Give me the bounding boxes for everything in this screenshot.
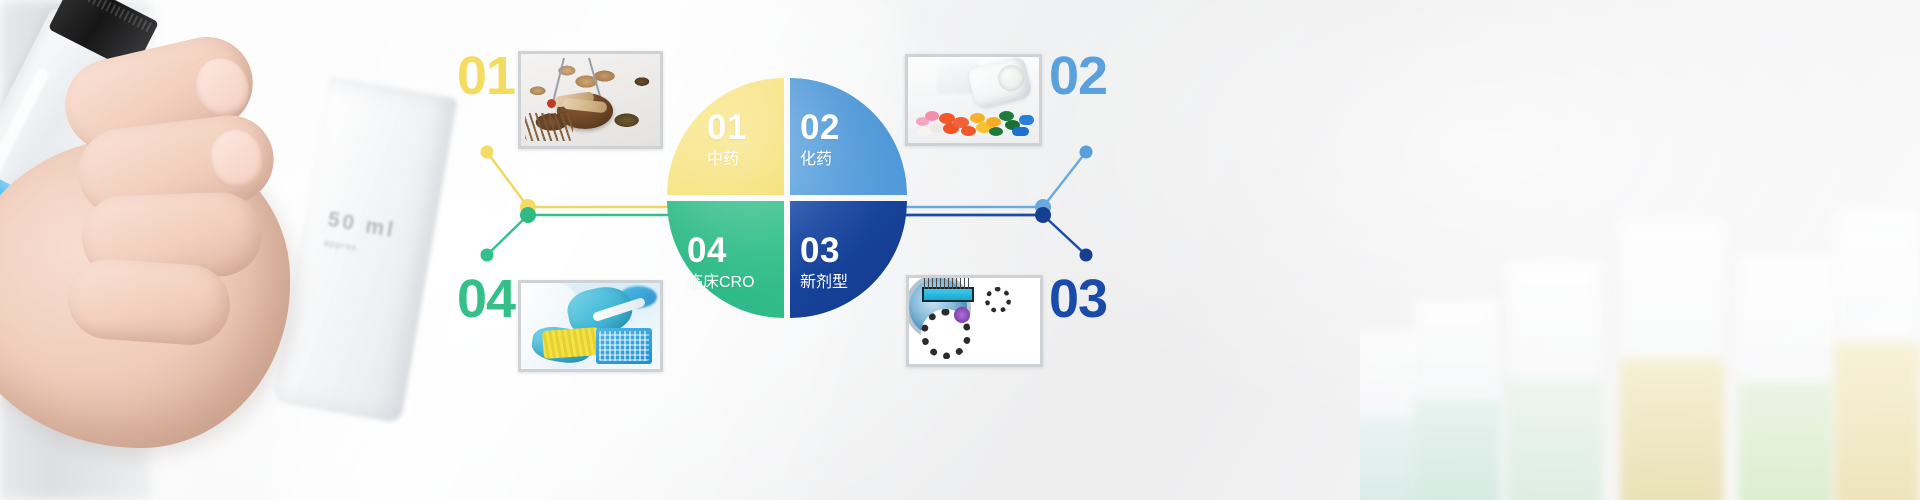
- quadrant-01-number: 01: [707, 110, 747, 145]
- quadrant-03-label: 03 新剂型: [800, 233, 848, 291]
- outer-number-01: 01: [457, 49, 515, 103]
- photo-pills: [908, 57, 1039, 143]
- outer-number-02: 02: [1049, 49, 1107, 103]
- quadrant-04-text: 临床CRO: [687, 275, 755, 291]
- connector-node-03-outer: [1080, 249, 1093, 262]
- hand: [0, 18, 380, 458]
- lipid-monolayer-diagram: [922, 287, 974, 302]
- hand-finger-little: [65, 256, 232, 347]
- quadrant-01-text: 中药: [707, 152, 747, 168]
- outer-number-04: 04: [457, 272, 515, 326]
- glassware-tube-b: [1506, 260, 1602, 500]
- quadrant-02-label: 02 化药: [800, 110, 840, 168]
- quadrant-03-text: 新剂型: [800, 275, 848, 291]
- yellow-pipette-tips: [542, 327, 600, 359]
- laboratory-glassware-scene: [1360, 0, 1920, 500]
- photo-card-02[interactable]: [905, 54, 1042, 146]
- pill-cluster: [913, 100, 1034, 138]
- quadrant-01-label: 01 中药: [707, 110, 747, 168]
- blue-tip-rack: [596, 328, 652, 364]
- quadrant-02-text: 化药: [800, 152, 840, 168]
- connector-02: [884, 146, 1093, 216]
- quadrant-04-number: 04: [687, 233, 755, 268]
- quadrant-04-label: 04 临床CRO: [687, 233, 755, 291]
- dried-twigs: [525, 113, 573, 141]
- photo-card-04[interactable]: [518, 280, 663, 372]
- connector-node-02-outer: [1080, 146, 1093, 159]
- outer-number-03: 03: [1049, 272, 1107, 326]
- photo-card-01[interactable]: [518, 51, 663, 149]
- connector-03: [884, 207, 1093, 262]
- glassware-tube-f: [1360, 330, 1420, 500]
- quadrant-03-number: 03: [800, 233, 848, 268]
- micelle-diagram: [985, 287, 1011, 313]
- photo-lab-technician: [521, 283, 660, 369]
- connector-node-03-junction: [1035, 207, 1051, 223]
- glassware-tube-a: [1414, 300, 1500, 500]
- photo-card-03[interactable]: [906, 275, 1043, 367]
- glassware-tube-c: [1620, 220, 1724, 500]
- quadrant-02-number: 02: [800, 110, 840, 145]
- four-quadrant-circle: 01 中药 02 化药 04 临床CRO 03 新剂型: [667, 78, 907, 318]
- photo-liposome-diagram: [909, 278, 1040, 364]
- glassware-tube-e: [1834, 210, 1920, 500]
- red-berry: [547, 99, 556, 108]
- connector-node-02-junction: [1035, 199, 1051, 215]
- glassware-tube-d: [1738, 256, 1834, 500]
- banner-stage: 50 ml approx.: [0, 0, 1920, 500]
- photo-herbs: [521, 54, 660, 146]
